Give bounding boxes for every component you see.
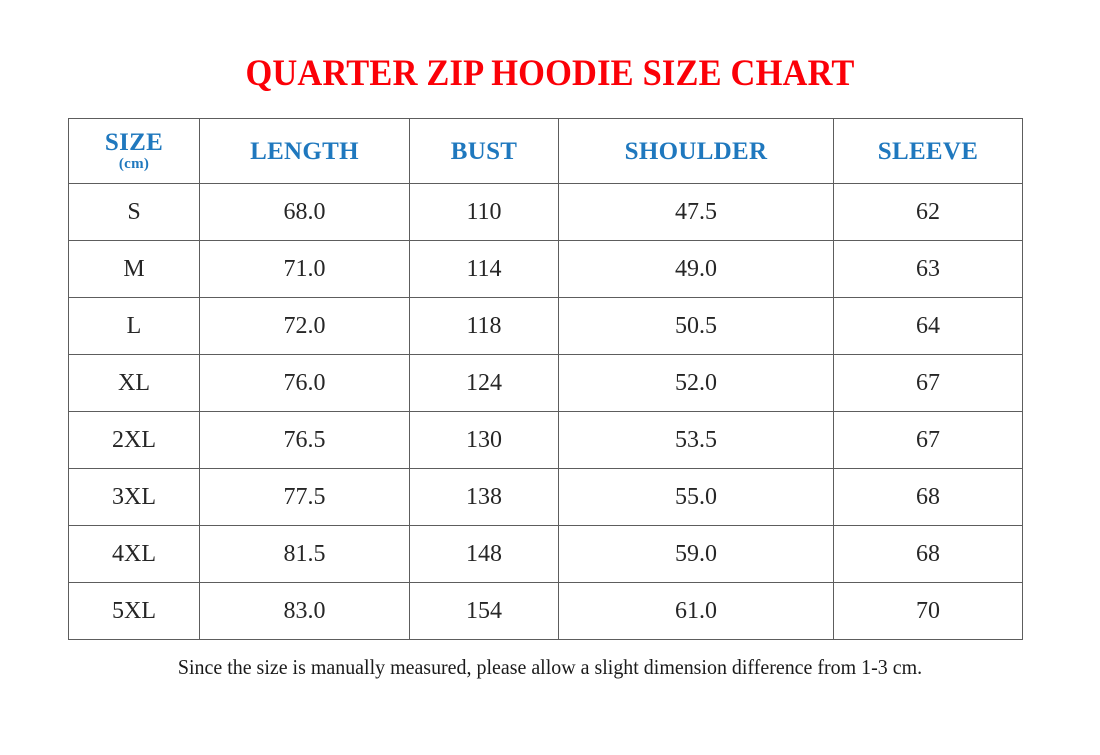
cell-size: 3XL (69, 469, 200, 526)
cell-shoulder: 59.0 (559, 526, 834, 583)
cell-length: 81.5 (200, 526, 410, 583)
cell-bust: 148 (410, 526, 559, 583)
cell-shoulder: 47.5 (559, 184, 834, 241)
table-row: 4XL 81.5 148 59.0 68 (69, 526, 1023, 583)
size-chart-table: SIZE (cm) LENGTH BUST (68, 118, 1023, 640)
cell-length: 76.0 (200, 355, 410, 412)
cell-length: 83.0 (200, 583, 410, 640)
cell-sleeve: 68 (834, 469, 1023, 526)
cell-size: S (69, 184, 200, 241)
column-header-sleeve: SLEEVE (834, 119, 1023, 184)
cell-bust: 138 (410, 469, 559, 526)
column-header-shoulder-label: SHOULDER (625, 139, 768, 164)
cell-sleeve: 67 (834, 355, 1023, 412)
cell-sleeve: 70 (834, 583, 1023, 640)
table-row: XL 76.0 124 52.0 67 (69, 355, 1023, 412)
cell-sleeve: 63 (834, 241, 1023, 298)
cell-shoulder: 50.5 (559, 298, 834, 355)
cell-bust: 124 (410, 355, 559, 412)
cell-shoulder: 61.0 (559, 583, 834, 640)
table-row: S 68.0 110 47.5 62 (69, 184, 1023, 241)
table-row: L 72.0 118 50.5 64 (69, 298, 1023, 355)
table-row: M 71.0 114 49.0 63 (69, 241, 1023, 298)
cell-size: 5XL (69, 583, 200, 640)
table-row: 3XL 77.5 138 55.0 68 (69, 469, 1023, 526)
column-header-shoulder: SHOULDER (559, 119, 834, 184)
cell-sleeve: 67 (834, 412, 1023, 469)
cell-shoulder: 52.0 (559, 355, 834, 412)
table-header-row: SIZE (cm) LENGTH BUST (69, 119, 1023, 184)
table-header: SIZE (cm) LENGTH BUST (69, 119, 1023, 184)
cell-shoulder: 49.0 (559, 241, 834, 298)
cell-sleeve: 68 (834, 526, 1023, 583)
cell-length: 68.0 (200, 184, 410, 241)
cell-shoulder: 55.0 (559, 469, 834, 526)
cell-size: L (69, 298, 200, 355)
cell-length: 72.0 (200, 298, 410, 355)
column-header-sleeve-label: SLEEVE (878, 139, 978, 164)
cell-length: 77.5 (200, 469, 410, 526)
column-header-bust: BUST (410, 119, 559, 184)
measurement-disclaimer: Since the size is manually measured, ple… (28, 655, 1073, 680)
table-row: 5XL 83.0 154 61.0 70 (69, 583, 1023, 640)
cell-bust: 130 (410, 412, 559, 469)
cell-sleeve: 62 (834, 184, 1023, 241)
cell-sleeve: 64 (834, 298, 1023, 355)
page-title: QUARTER ZIP HOODIE SIZE CHART (39, 52, 1062, 95)
column-header-bust-label: BUST (451, 139, 518, 164)
size-table-container: SIZE (cm) LENGTH BUST (68, 118, 1022, 640)
cell-length: 76.5 (200, 412, 410, 469)
column-header-size: SIZE (cm) (69, 119, 200, 184)
cell-size: 2XL (69, 412, 200, 469)
cell-length: 71.0 (200, 241, 410, 298)
cell-bust: 114 (410, 241, 559, 298)
cell-bust: 110 (410, 184, 559, 241)
size-chart-page: QUARTER ZIP HOODIE SIZE CHART SIZE (cm) (0, 0, 1100, 755)
column-header-size-unit: (cm) (119, 157, 149, 172)
table-body: S 68.0 110 47.5 62 M 71.0 114 49.0 63 L … (69, 184, 1023, 640)
cell-shoulder: 53.5 (559, 412, 834, 469)
table-row: 2XL 76.5 130 53.5 67 (69, 412, 1023, 469)
cell-bust: 154 (410, 583, 559, 640)
cell-size: 4XL (69, 526, 200, 583)
cell-size: M (69, 241, 200, 298)
cell-bust: 118 (410, 298, 559, 355)
column-header-size-label: SIZE (105, 130, 163, 155)
cell-size: XL (69, 355, 200, 412)
column-header-length: LENGTH (200, 119, 410, 184)
column-header-length-label: LENGTH (250, 139, 359, 164)
